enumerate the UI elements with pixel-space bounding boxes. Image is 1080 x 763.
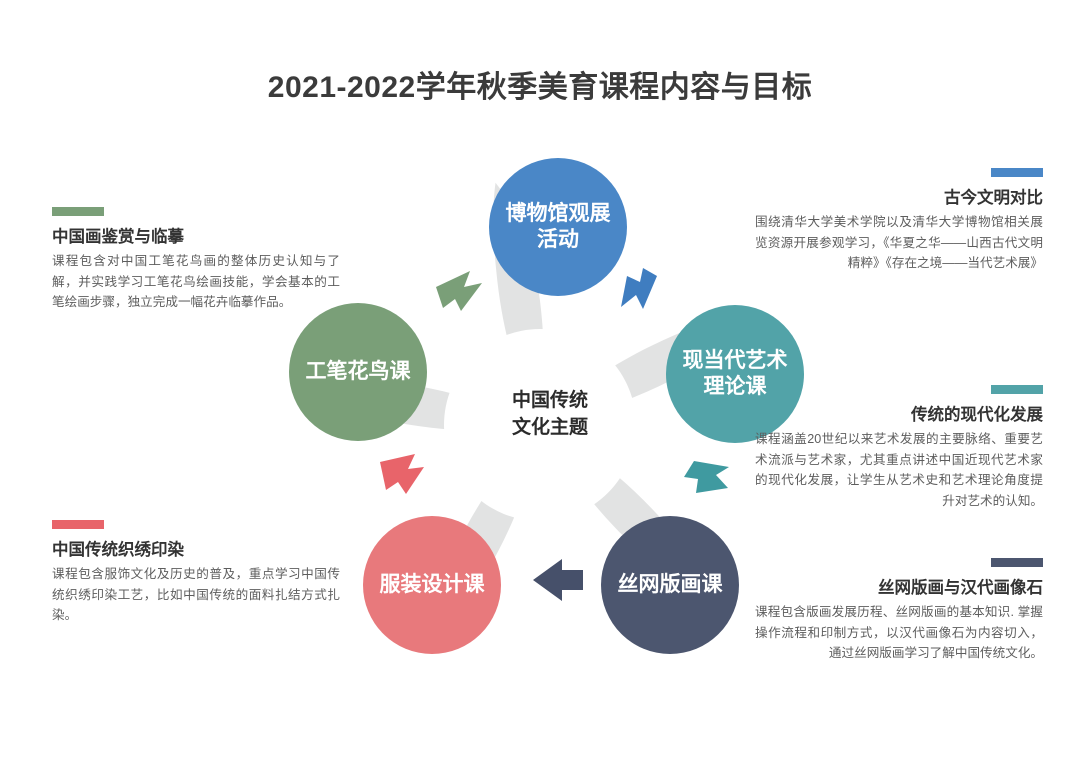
description-silkscreen: 丝网版画与汉代画像石 课程包含版画发展历程、丝网版画的基本知识. 掌握操作流程和…	[755, 558, 1043, 664]
node-silkscreen-label: 丝网版画课	[618, 572, 723, 598]
swatch-gongbi	[52, 207, 104, 216]
arrow-navy-icon	[533, 559, 583, 601]
description-gongbi-body: 课程包含对中国工笔花鸟画的整体历史认知与了解，并实践学习工笔花鸟绘画技能，学会基…	[52, 251, 340, 312]
arrow-green-icon	[436, 271, 482, 311]
description-textile: 中国传统织绣印染 课程包含服饰文化及历史的普及，重点学习中国传统织绣印染工艺，比…	[52, 520, 340, 626]
description-museum-title: 古今文明对比	[755, 188, 1043, 209]
node-museum-label: 博物馆观展 活动	[506, 201, 611, 254]
swatch-silkscreen	[991, 558, 1043, 567]
node-museum[interactable]: 博物馆观展 活动	[489, 158, 627, 296]
description-modern-body: 课程涵盖20世纪以来艺术发展的主要脉络、重要艺术流派与艺术家，尤其重点讲述中国近…	[755, 429, 1043, 511]
description-modern-title: 传统的现代化发展	[755, 405, 1043, 426]
node-silkscreen[interactable]: 丝网版画课	[601, 516, 739, 654]
description-textile-body: 课程包含服饰文化及历史的普及，重点学习中国传统织绣印染工艺，比如中国传统的面料扎…	[52, 564, 340, 625]
node-museum-label-line1: 博物馆观展	[506, 202, 611, 225]
arrow-pink-icon	[380, 454, 424, 494]
description-silkscreen-title: 丝网版画与汉代画像石	[755, 578, 1043, 599]
arrow-blue-icon	[621, 268, 657, 309]
center-label-line1: 中国传统	[512, 390, 588, 411]
center-hub-label: 中国传统 文化主题	[470, 388, 630, 442]
arrow-teal-icon	[684, 461, 729, 493]
description-gongbi: 中国画鉴赏与临摹 课程包含对中国工笔花鸟画的整体历史认知与了解，并实践学习工笔花…	[52, 207, 340, 313]
node-theory-label-line1: 现当代艺术	[683, 349, 788, 372]
description-museum-body: 围绕清华大学美术学院以及清华大学博物馆相关展览资源开展参观学习，《华夏之华——山…	[755, 212, 1043, 273]
center-label-line2: 文化主题	[512, 417, 588, 438]
description-modern: 传统的现代化发展 课程涵盖20世纪以来艺术发展的主要脉络、重要艺术流派与艺术家，…	[755, 385, 1043, 511]
node-gongbi[interactable]: 工笔花鸟课	[289, 303, 427, 441]
description-textile-title: 中国传统织绣印染	[52, 540, 340, 561]
infographic-page: 2021-2022学年秋季美育课程内容与目标	[0, 0, 1080, 763]
description-silkscreen-body: 课程包含版画发展历程、丝网版画的基本知识. 掌握操作流程和印制方式，以汉代画像石…	[755, 602, 1043, 663]
node-fashion-label: 服装设计课	[380, 572, 485, 598]
node-gongbi-label: 工笔花鸟课	[306, 359, 411, 385]
swatch-textile	[52, 520, 104, 529]
swatch-museum	[991, 168, 1043, 177]
description-museum: 古今文明对比 围绕清华大学美术学院以及清华大学博物馆相关展览资源开展参观学习，《…	[755, 168, 1043, 274]
node-fashion[interactable]: 服装设计课	[363, 516, 501, 654]
swatch-modern	[991, 385, 1043, 394]
description-gongbi-title: 中国画鉴赏与临摹	[52, 227, 340, 248]
node-museum-label-line2: 活动	[537, 228, 579, 251]
